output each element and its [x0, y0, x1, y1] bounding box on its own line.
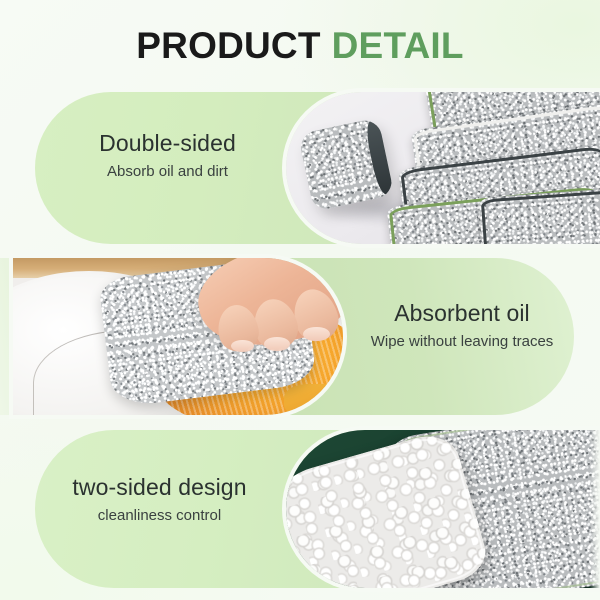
panel2-headline: Absorbent oil — [352, 300, 572, 326]
product-detail-infographic: PRODUCTDETAIL — [0, 0, 600, 600]
panel1-subline: Absorb oil and dirt — [60, 163, 275, 180]
stacked-pads-scene — [286, 92, 600, 244]
fingernail-2 — [264, 337, 290, 351]
feature-panel-double-sided: Double-sided Absorb oil and dirt — [0, 92, 600, 244]
title-word-product: PRODUCT — [136, 25, 320, 66]
fingernail-3 — [231, 340, 254, 353]
two-sided-pad-scene — [286, 430, 600, 588]
panel3-copy: two-sided design cleanliness control — [42, 474, 277, 525]
panel1-product-photo — [286, 92, 600, 244]
panel1-headline: Double-sided — [60, 130, 275, 156]
panel2-copy: Absorbent oil Wipe without leaving trace… — [352, 300, 572, 351]
feature-panel-two-sided-design: two-sided design cleanliness control — [0, 430, 600, 588]
title-word-detail: DETAIL — [332, 25, 464, 66]
oil-wiping-scene — [13, 258, 343, 415]
panel3-subline: cleanliness control — [42, 507, 277, 524]
panel3-product-photo — [286, 430, 600, 588]
fingernail-1 — [303, 327, 329, 341]
feature-panel-absorbent-oil: Absorbent oil Wipe without leaving trace… — [0, 258, 600, 415]
panel2-subline: Wipe without leaving traces — [352, 333, 572, 350]
panel1-copy: Double-sided Absorb oil and dirt — [60, 130, 275, 181]
panel3-headline: two-sided design — [42, 474, 277, 500]
page-title: PRODUCTDETAIL — [136, 27, 463, 64]
photo-right-fade — [590, 430, 600, 588]
panel2-product-photo — [13, 258, 343, 415]
oil-edge-highlight — [284, 384, 343, 415]
page-header: PRODUCTDETAIL — [0, 0, 600, 90]
